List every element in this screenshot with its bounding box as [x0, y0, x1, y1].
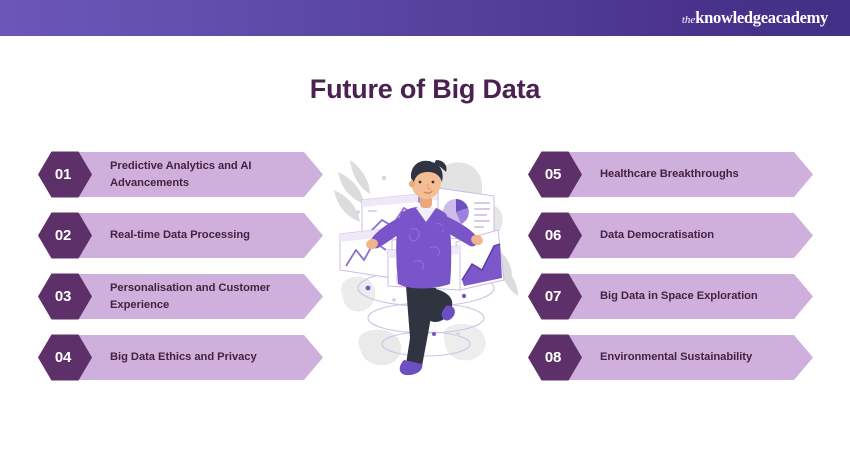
item-number-badge: 07	[528, 272, 582, 321]
item-number: 01	[55, 166, 71, 183]
item-number-badge: 03	[38, 272, 92, 321]
hexagon-shape: 03	[38, 272, 92, 321]
item-number: 08	[545, 349, 561, 366]
item-number-badge: 04	[38, 333, 92, 382]
item-label: Big Data in Space Exploration	[600, 274, 782, 319]
item-label: Big Data Ethics and Privacy	[110, 335, 292, 380]
item-label: Environmental Sustainability	[600, 335, 782, 380]
item-number: 05	[545, 166, 561, 183]
item-number-badge: 01	[38, 150, 92, 199]
list-item[interactable]: Data Democratisation 06	[528, 213, 813, 258]
right-items-column: Healthcare Breakthroughs 05 Data Democra…	[528, 152, 813, 396]
item-number: 02	[55, 227, 71, 244]
item-label: Predictive Analytics and AI Advancements	[110, 152, 292, 197]
left-items-column: Predictive Analytics and AI Advancements…	[38, 152, 323, 396]
item-number: 06	[545, 227, 561, 244]
item-number-badge: 06	[528, 211, 582, 260]
hexagon-shape: 05	[528, 150, 582, 199]
list-item[interactable]: Big Data in Space Exploration 07	[528, 274, 813, 319]
hexagon-shape: 08	[528, 333, 582, 382]
hexagon-shape: 04	[38, 333, 92, 382]
item-number: 04	[55, 349, 71, 366]
brand-logo-the: the	[682, 14, 695, 26]
item-number-badge: 05	[528, 150, 582, 199]
hexagon-shape: 07	[528, 272, 582, 321]
item-label: Data Democratisation	[600, 213, 782, 258]
item-number: 03	[55, 288, 71, 305]
brand-logo-name: knowledgeacademy	[695, 8, 828, 27]
list-item[interactable]: Environmental Sustainability 08	[528, 335, 813, 380]
list-item[interactable]: Big Data Ethics and Privacy 04	[38, 335, 323, 380]
list-item[interactable]: Real-time Data Processing 02	[38, 213, 323, 258]
item-label: Healthcare Breakthroughs	[600, 152, 782, 197]
page-title: Future of Big Data	[0, 74, 850, 105]
item-label: Personalisation and Customer Experience	[110, 274, 292, 319]
item-label: Real-time Data Processing	[110, 213, 292, 258]
list-item[interactable]: Predictive Analytics and AI Advancements…	[38, 152, 323, 197]
brand-logo: theknowledgeacademy	[682, 8, 828, 28]
list-item[interactable]: Healthcare Breakthroughs 05	[528, 152, 813, 197]
hexagon-shape: 06	[528, 211, 582, 260]
item-number-badge: 02	[38, 211, 92, 260]
top-header-bar: theknowledgeacademy	[0, 0, 850, 36]
list-item[interactable]: Personalisation and Customer Experience …	[38, 274, 323, 319]
item-number: 07	[545, 288, 561, 305]
hexagon-shape: 01	[38, 150, 92, 199]
center-illustration	[332, 138, 518, 378]
hexagon-shape: 02	[38, 211, 92, 260]
item-number-badge: 08	[528, 333, 582, 382]
